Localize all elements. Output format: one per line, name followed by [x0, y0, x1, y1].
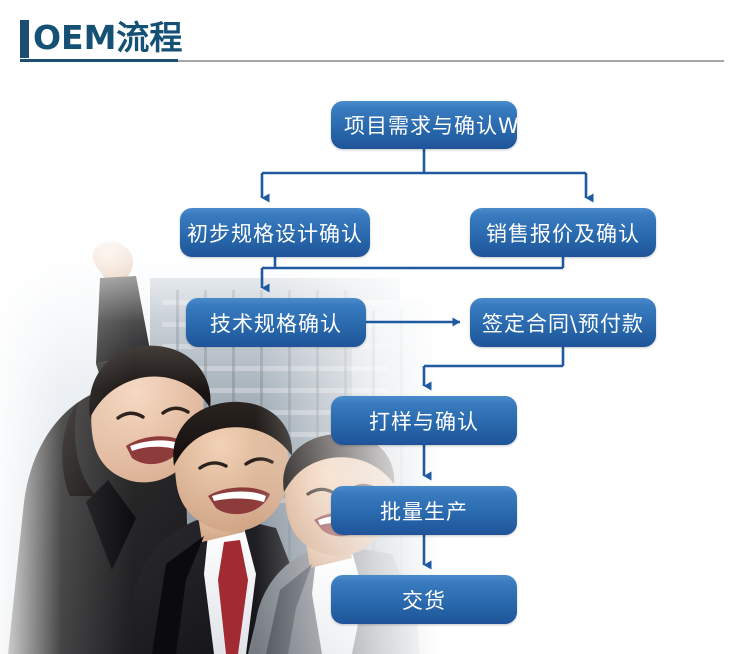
- flow-node-label: 打样与确认: [369, 406, 479, 436]
- flow-node-technical-spec-confirm[interactable]: 技术规格确认: [186, 298, 366, 347]
- flow-node-label: 批量生产: [380, 496, 468, 526]
- flow-node-delivery[interactable]: 交货: [331, 575, 517, 624]
- flow-node-label: 项目需求与确认W: [331, 110, 517, 140]
- flow-node-project-requirements[interactable]: 项目需求与确认W: [331, 101, 517, 149]
- oem-process-flowchart: 项目需求与确认W 初步规格设计确认 销售报价及确认 技术规格确认 签定合同\预付…: [0, 0, 750, 654]
- header-divider-dark: [20, 59, 178, 62]
- page-header: OEM流程: [0, 0, 750, 72]
- flow-node-sampling-confirm[interactable]: 打样与确认: [331, 396, 517, 445]
- flow-node-sales-quotation[interactable]: 销售报价及确认: [470, 208, 656, 257]
- page-title: OEM流程: [33, 18, 182, 58]
- flow-node-label: 初步规格设计确认: [187, 218, 363, 248]
- flow-node-contract-prepayment[interactable]: 签定合同\预付款: [470, 298, 656, 347]
- flow-node-label: 销售报价及确认: [486, 218, 640, 248]
- flow-node-label: 签定合同\预付款: [482, 308, 644, 338]
- flow-node-mass-production[interactable]: 批量生产: [331, 486, 517, 535]
- page-root: OEM流程: [0, 0, 750, 654]
- title-accent-bar: [20, 20, 29, 58]
- flow-node-label: 交货: [402, 585, 446, 615]
- flow-node-label: 技术规格确认: [210, 308, 342, 338]
- header-divider-gray: [178, 60, 724, 62]
- flow-node-preliminary-spec-design[interactable]: 初步规格设计确认: [180, 208, 370, 257]
